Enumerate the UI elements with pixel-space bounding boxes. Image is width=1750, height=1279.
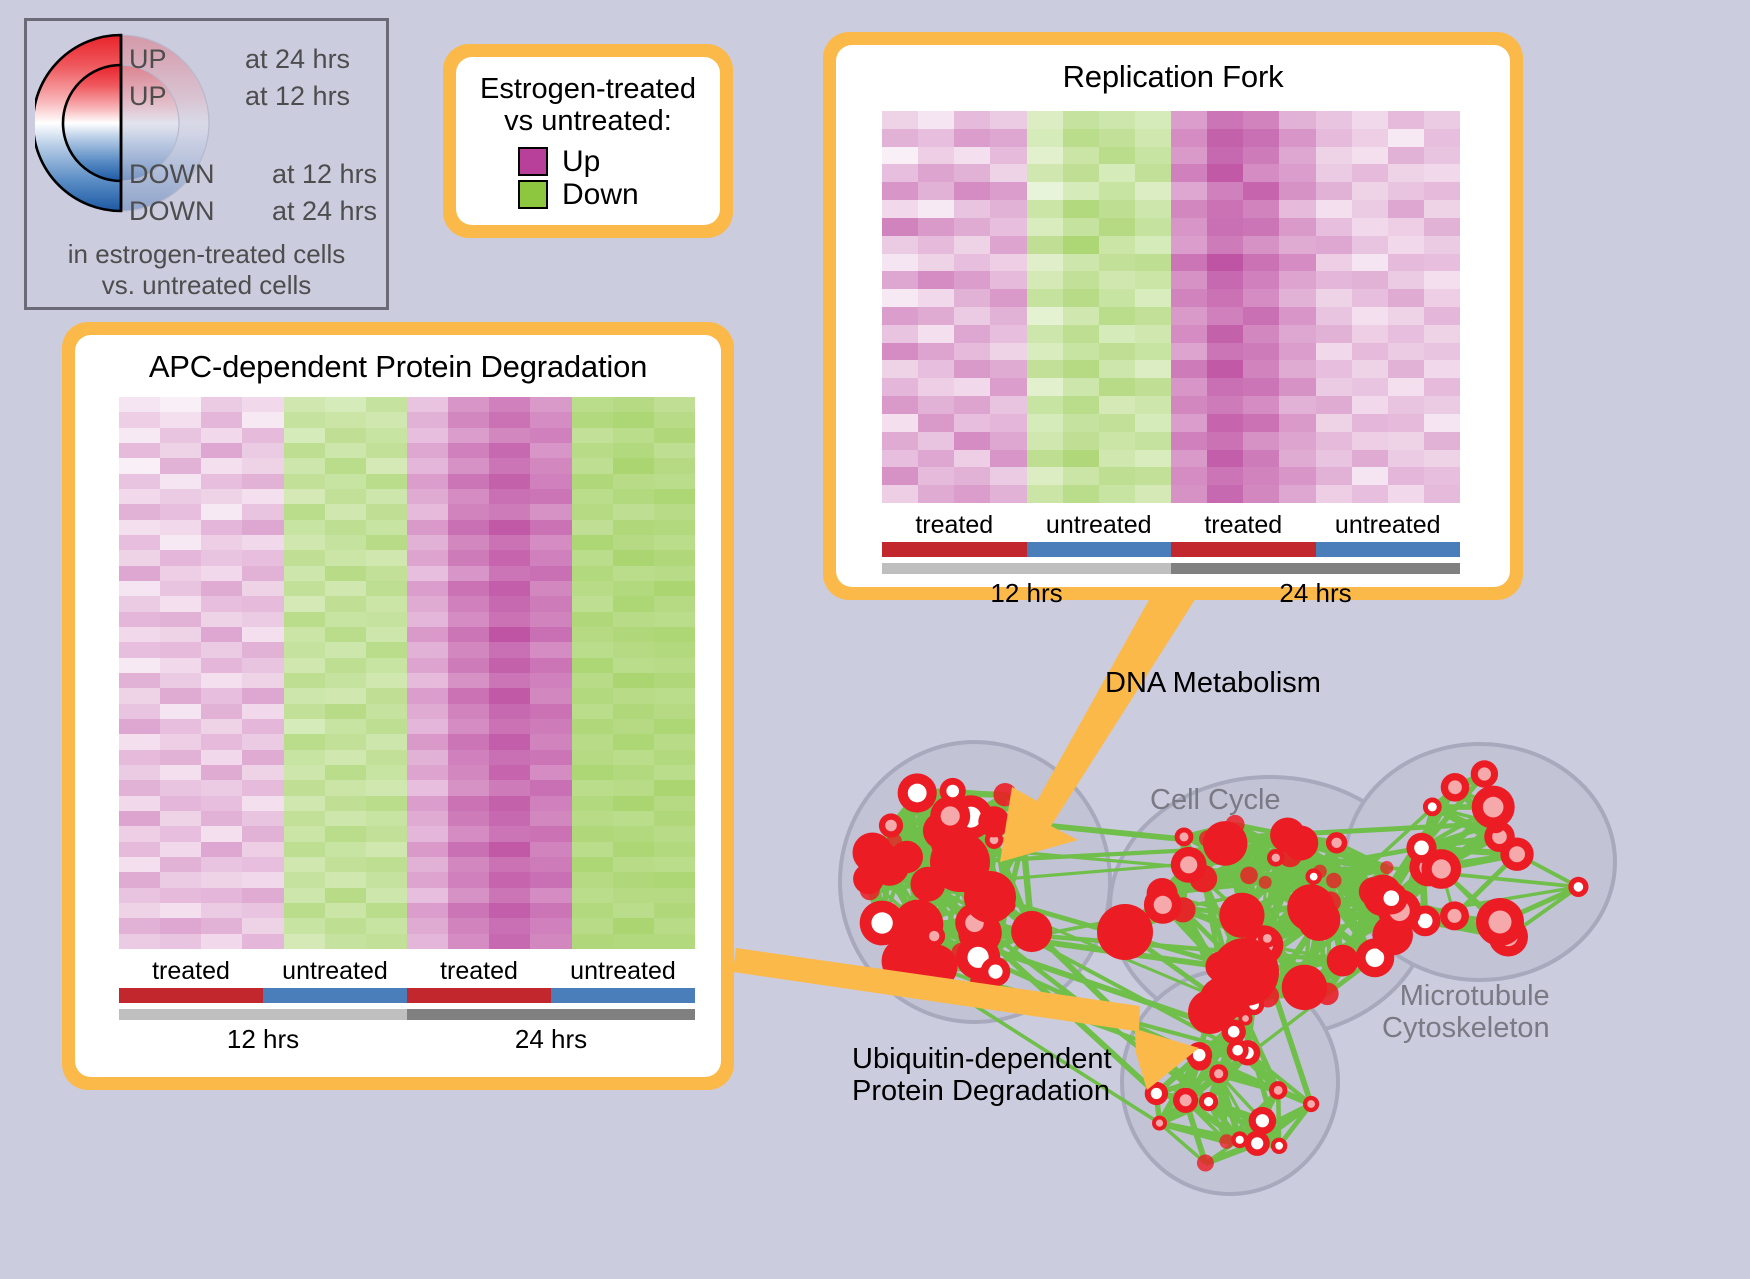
axis-group-label: untreated [263,957,407,986]
legend-time-up-12: at 12 hrs [245,81,350,112]
apc-axis-group-labels: treateduntreatedtreateduntreated [119,957,695,986]
network-node [1097,904,1153,960]
network-node-core [1414,841,1429,856]
replication-fork-heatmap [882,111,1460,503]
network-node [1380,861,1393,874]
estrogen-legend-title-line2: vs untreated: [456,105,720,137]
network-node-core [1478,767,1491,780]
legend-state-up-12: UP [129,81,167,112]
replication-fork-title: Replication Fork [836,45,1510,95]
network-node [853,833,893,873]
network-node-core [1180,1094,1192,1106]
axis-time-bar [882,563,1171,574]
legend-time-down-24: at 24 hrs [272,196,377,227]
network-node-core [1331,838,1341,848]
network-node [1282,965,1327,1010]
cluster-label-line: Protein Degradation [852,1075,1112,1107]
network-node-core [885,820,897,832]
axis-group-bar [551,988,695,1003]
network-node [913,944,958,989]
network-node-core [988,965,1002,979]
legend-state-up-24: UP [129,44,167,75]
network-node [993,783,1016,806]
network-node [1219,1134,1233,1148]
apc-degradation-title: APC-dependent Protein Degradation [75,335,721,385]
apc-axis-time-labels: 12 hrs24 hrs [119,1024,695,1055]
estrogen-legend-title-line1: Estrogen-treated [456,73,720,105]
network-node [1018,797,1034,813]
network-node [1188,990,1232,1034]
network-node-core [1274,1086,1283,1095]
axis-group-label: untreated [1316,511,1461,540]
apc-degradation-heatmap [119,397,695,949]
network-node-core [1310,873,1318,881]
axis-time-bar [407,1009,695,1020]
estrogen-legend-items: Up Down [456,147,720,210]
network-node-core [1384,890,1400,906]
network-node [978,806,1009,837]
axis-group-label: treated [119,957,263,986]
network-node [1017,833,1029,845]
network-node [1011,911,1052,952]
up-down-rings-legend: UP at 24 hrs UP at 12 hrs DOWN at 12 hrs… [24,18,389,310]
axis-time-label: 24 hrs [407,1024,695,1055]
axis-time-label: 24 hrs [1171,578,1460,609]
axis-group-bar [1316,542,1461,557]
axis-group-bar [1027,542,1172,557]
network-node-core [908,784,927,803]
network-node-core [1448,780,1462,794]
legend-state-down-12: DOWN [129,159,214,190]
cluster-label-cell-cycle: Cell Cycle [1150,784,1281,816]
estrogen-legend-panel: Estrogen-treated vs untreated: Up Down [443,44,733,238]
up-color-swatch [518,147,548,176]
apc-axis-group-bars [119,988,695,1003]
network-node-core [1180,832,1189,841]
network-node [1197,1155,1214,1172]
axis-time-bar [119,1009,407,1020]
estrogen-legend-title: Estrogen-treated vs untreated: [456,57,720,138]
apc-degradation-panel: APC-dependent Protein Degradation treate… [62,322,734,1090]
up-label: Up [562,147,600,177]
legend-footnote: in estrogen-treated cells vs. untreated … [27,239,386,300]
replication-fork-panel: Replication Fork treateduntreatedtreated… [823,32,1523,600]
axis-group-bar [119,988,263,1003]
network-node [1326,873,1341,888]
legend-footnote-line2: vs. untreated cells [27,270,386,301]
axis-group-bar [407,988,551,1003]
axis-group-label: untreated [1027,511,1172,540]
network-node-core [1228,1026,1240,1038]
network-node-core [1263,934,1272,943]
replication-axis-group-bars [882,542,1460,557]
cluster-label-line: DNA Metabolism [1105,667,1321,699]
legend-time-up-24: at 24 hrs [245,44,350,75]
network-node-core [1275,1142,1283,1150]
network-node [1240,867,1258,885]
network-node-core [941,806,960,825]
network-node-core [1307,1100,1315,1108]
axis-time-label: 12 hrs [119,1024,407,1055]
legend-time-down-12: at 12 hrs [272,159,377,190]
network-node [1219,893,1264,938]
legend-item-down: Down [518,180,720,210]
network-node-core [1448,909,1462,923]
network-node-core [1214,1069,1223,1078]
down-color-swatch [518,180,548,209]
network-node [1327,945,1359,977]
network-node-core [1242,1015,1249,1022]
replication-axis-group-labels: treateduntreatedtreateduntreated [882,511,1460,540]
replication-axis-time-labels: 12 hrs24 hrs [882,578,1460,609]
cluster-label-ubiquitin-degradation: Ubiquitin-dependentProtein Degradation [852,1043,1112,1108]
network-node [1259,876,1272,889]
network-node-core [929,931,939,941]
network-node-core [1156,1120,1163,1127]
cluster-label-line: Cell Cycle [1150,784,1281,816]
network-node-core [1256,1114,1269,1127]
network-node-core [1428,802,1437,811]
replication-axis-time-bars [882,563,1460,574]
network-node-core [1509,846,1525,862]
axis-group-label: treated [1171,511,1316,540]
network-node-core [1151,1088,1162,1099]
cluster-label-line: Cytoskeleton [1382,1012,1550,1044]
network-node-core [1483,797,1504,818]
cluster-label-line: Microtubule [1382,980,1550,1012]
axis-group-bar [882,542,1027,557]
axis-group-label: untreated [551,957,695,986]
axis-group-label: treated [882,511,1027,540]
network-node [964,871,1016,923]
down-label: Down [562,180,639,210]
network-node [860,880,880,900]
network-node [1283,826,1318,861]
network-node-core [1489,911,1512,934]
axis-time-label: 12 hrs [882,578,1171,609]
network-node-core [1204,1097,1213,1106]
network-node-core [1251,1137,1263,1149]
network-node-core [946,785,959,798]
network-node-core [1236,1136,1244,1144]
legend-footnote-line1: in estrogen-treated cells [27,239,386,270]
network-node-core [871,912,892,933]
network-node-core [1193,1049,1206,1062]
axis-group-bar [1171,542,1316,557]
protein-interaction-network [790,612,1750,1279]
legend-state-down-24: DOWN [129,196,214,227]
network-node [1203,821,1248,866]
axis-group-bar [263,988,407,1003]
network-node-core [1574,882,1584,892]
apc-axis-time-bars [119,1009,695,1020]
network-node-core [1432,859,1451,878]
network-node [1287,884,1334,931]
cluster-label-dna-metabolism: DNA Metabolism [1105,667,1321,699]
cluster-label-microtubule-cytoskeleton: MicrotubuleCytoskeleton [1382,980,1550,1045]
network-node-core [1180,856,1197,873]
network-node-core [1154,896,1172,914]
cluster-label-line: Ubiquitin-dependent [852,1043,1112,1075]
network-node-core [1272,854,1280,862]
network-node-core [1232,1045,1243,1056]
legend-item-up: Up [518,147,720,177]
axis-time-bar [1171,563,1460,574]
axis-group-label: treated [407,957,551,986]
